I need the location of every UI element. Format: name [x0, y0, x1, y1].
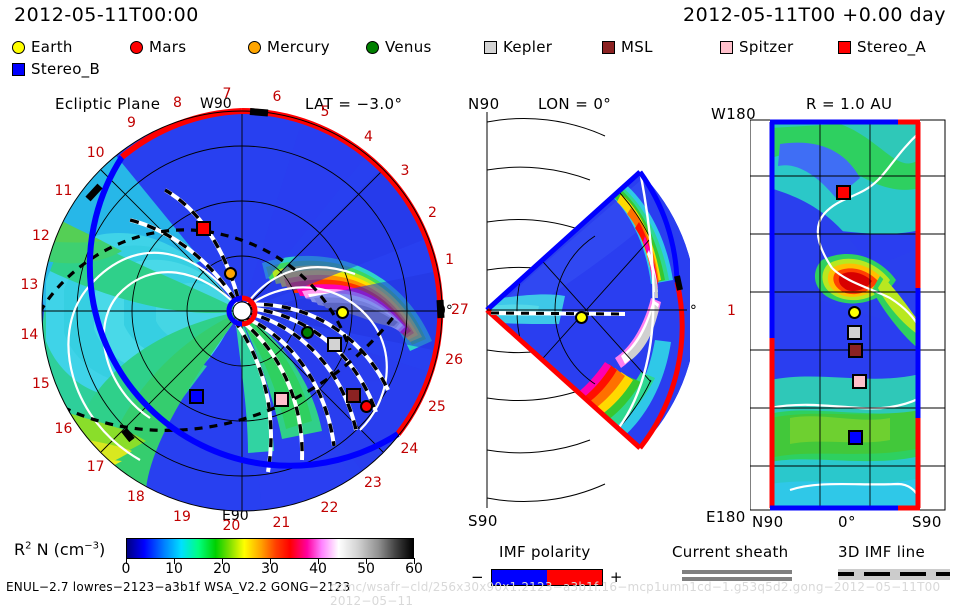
ecliptic-hour-tick: 7	[222, 86, 231, 102]
radial-center-label: 0°	[838, 513, 856, 531]
colorbar-label-exp: 2	[25, 541, 31, 552]
ecliptic-hour-tick: 13	[20, 277, 38, 293]
legend-label: Mars	[149, 38, 186, 56]
ecliptic-hour-tick: 23	[364, 475, 382, 491]
ecliptic-hour-tick: 3	[400, 163, 409, 179]
legend-label: Kepler	[503, 38, 552, 56]
ecliptic-marker-earth[interactable]	[336, 306, 349, 319]
ecliptic-hour-tick: 6	[273, 89, 282, 105]
meridional-s90-label: S90	[468, 512, 498, 530]
current-sheath-title: Current sheath	[672, 543, 788, 561]
radial-marker-spitzer[interactable]	[852, 374, 867, 389]
body-legend: Earth Mars Mercury Venus Kepler MSL Spit…	[12, 36, 948, 80]
colorbar-tick-label: 50	[357, 561, 375, 577]
ecliptic-hour-tick: 22	[321, 500, 339, 516]
radial-n90-label: N90	[752, 513, 784, 531]
colorbar-tick-label: 20	[213, 561, 231, 577]
radial-e180-label: E180	[706, 508, 746, 526]
ecliptic-hour-tick: 21	[273, 515, 291, 531]
ecliptic-hour-tick: 15	[32, 376, 50, 392]
radial-marker-earth[interactable]	[848, 306, 861, 319]
radial-marker-msl[interactable]	[848, 343, 863, 358]
ecliptic-hour-tick: 18	[127, 489, 145, 505]
radial-marker-stereo-a[interactable]	[836, 185, 851, 200]
ecliptic-marker-venus[interactable]	[301, 326, 314, 339]
legend-label: Stereo_B	[31, 60, 100, 78]
colorbar-tick-label: 30	[261, 561, 279, 577]
meridional-marker-earth[interactable]	[575, 311, 588, 324]
ecliptic-hour-tick: 14	[20, 327, 38, 343]
legend-item-spitzer[interactable]: Spitzer	[720, 38, 838, 56]
imf-polarity-title: IMF polarity	[499, 543, 591, 561]
legend-item-kepler[interactable]: Kepler	[484, 38, 602, 56]
ecliptic-hour-tick: 4	[364, 129, 373, 145]
radial-marker-stereo-b[interactable]	[848, 430, 863, 445]
colorbar-tick-label: 40	[309, 561, 327, 577]
meridional-plot[interactable]	[455, 110, 690, 510]
colorbar-label-unit-end: )	[99, 540, 105, 559]
legend-row-1: Earth Mars Mercury Venus Kepler MSL Spit…	[12, 36, 948, 58]
ecliptic-marker-spitzer[interactable]	[274, 392, 289, 407]
ecliptic-hour-tick: 5	[321, 104, 330, 120]
colorbar-label-unit-exp: −3	[84, 541, 99, 552]
ecliptic-marker-kepler[interactable]	[327, 337, 342, 352]
ecliptic-hour-tick: 1	[445, 252, 454, 268]
colorbar-tick-label: 0	[122, 561, 131, 577]
ecliptic-hour-tick: 11	[55, 183, 73, 199]
footer-run-id: ccmc/wsafr−cld/256x30x90x1.2123−a3b1f.16…	[330, 580, 960, 608]
legend-item-mercury[interactable]: Mercury	[248, 38, 366, 56]
legend-label: Spitzer	[739, 38, 793, 56]
stereo-b-marker-icon	[12, 63, 25, 76]
ecliptic-hour-tick: 25	[428, 399, 446, 415]
header-timestamp-left: 2012-05-11T00:00	[14, 4, 199, 26]
legend-label: MSL	[621, 38, 653, 56]
colorbar-tick-label: 10	[165, 561, 183, 577]
legend-item-stereo-b[interactable]: Stereo_B	[12, 60, 100, 78]
legend-label: Stereo_A	[857, 38, 926, 56]
ecliptic-hour-tick: 8	[173, 95, 182, 111]
legend-label: Venus	[385, 38, 432, 56]
kepler-marker-icon	[484, 41, 497, 54]
ecliptic-hour-tick: 9	[127, 115, 136, 131]
ecliptic-marker-stereo-b[interactable]	[189, 389, 204, 404]
ecliptic-plane-plot[interactable]	[10, 100, 460, 520]
legend-label: Mercury	[267, 38, 330, 56]
msl-marker-icon	[602, 41, 615, 54]
footer-model-string: ENUL−2.7 lowres−2123−a3b1f WSA_V2.2 GONG…	[6, 580, 350, 594]
colorbar-label-r: R	[14, 540, 25, 559]
stereo-a-marker-icon	[838, 41, 851, 54]
colorbar-tick-label: 60	[405, 561, 423, 577]
colorbar-label-unit: N (cm	[37, 540, 85, 559]
radial-row-tick: 1	[727, 303, 736, 319]
legend-item-venus[interactable]: Venus	[366, 38, 484, 56]
venus-marker-icon	[366, 41, 379, 54]
spitzer-marker-icon	[720, 41, 733, 54]
legend-item-msl[interactable]: MSL	[602, 38, 720, 56]
legend-item-earth[interactable]: Earth	[12, 38, 130, 56]
legend-row-2: Stereo_B	[12, 58, 948, 80]
radial-panel-title: R = 1.0 AU	[806, 95, 892, 113]
radial-marker-kepler[interactable]	[847, 325, 862, 340]
radial-s90-label: S90	[912, 513, 942, 531]
ecliptic-marker-stereo-a[interactable]	[196, 221, 211, 236]
colorbar-label: R2 N (cm−3)	[14, 540, 105, 559]
imf-line-title: 3D IMF line	[838, 543, 925, 561]
legend-item-mars[interactable]: Mars	[130, 38, 248, 56]
ecliptic-marker-mars[interactable]	[360, 400, 373, 413]
ecliptic-hour-tick: 16	[55, 421, 73, 437]
mars-marker-icon	[130, 41, 143, 54]
ecliptic-hour-tick: 2	[428, 205, 437, 221]
ecliptic-marker-msl[interactable]	[346, 388, 361, 403]
ecliptic-hour-tick: 17	[87, 459, 105, 475]
ecliptic-hour-tick: 19	[173, 509, 191, 525]
ecliptic-hour-tick: 10	[87, 145, 105, 161]
ecliptic-marker-mercury[interactable]	[224, 267, 237, 280]
earth-marker-icon	[12, 41, 25, 54]
density-colorbar[interactable]	[126, 538, 414, 559]
ecliptic-hour-tick: 20	[222, 518, 240, 534]
legend-label: Earth	[31, 38, 73, 56]
ecliptic-hour-tick: 24	[400, 441, 418, 457]
legend-item-stereo-a[interactable]: Stereo_A	[838, 38, 926, 56]
imf-line-swatch	[838, 569, 950, 580]
header-timestamp-right: 2012-05-11T00 +0.00 day	[683, 4, 946, 26]
mercury-marker-icon	[248, 41, 261, 54]
ecliptic-hour-tick: 12	[32, 228, 50, 244]
